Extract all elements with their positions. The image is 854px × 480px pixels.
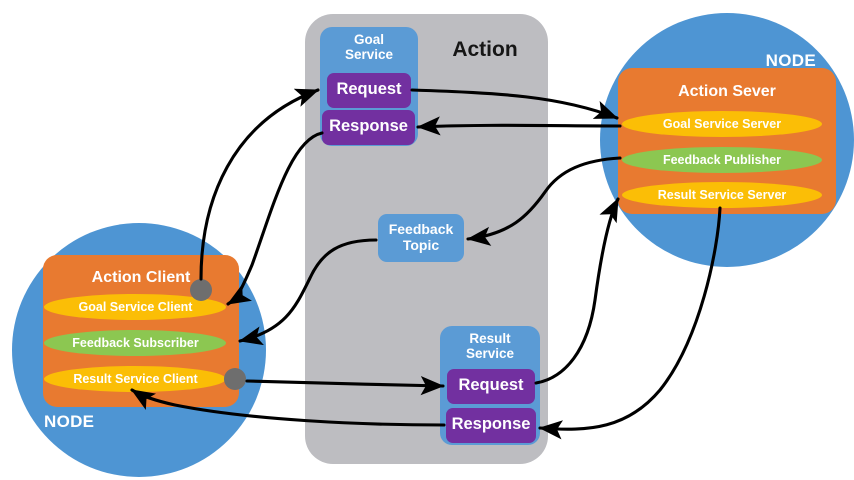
server-endpoint-label-feedback-publisher: Feedback Publisher [622,153,822,167]
client-endpoint-label-feedback-subscriber: Feedback Subscriber [45,336,226,350]
client-group-title: Action Client [45,269,237,287]
goal-service-request-label: Request [327,80,411,98]
action-container-label: Action [430,38,540,62]
server-endpoint-label-goal-service-server: Goal Service Server [622,117,822,131]
server-endpoint-label-result-service-server: Result Service Server [622,188,822,202]
server-node-label: NODE [730,51,816,70]
diagram-canvas: Action Goal Service Request Response Fee… [0,0,854,480]
result-service-response-label: Response [446,415,536,433]
result-service-title: Result Service [445,331,535,361]
connector-dot-result-client [224,368,246,390]
server-group-title: Action Sever [620,83,834,101]
result-service-request-label: Request [447,376,535,394]
goal-service-title: Goal Service [324,32,414,62]
feedback-topic-label: Feedback Topic [379,222,463,253]
goal-service-response-label: Response [322,117,415,135]
client-node-label: NODE [44,412,130,431]
client-endpoint-label-result-service-client: Result Service Client [45,372,226,386]
client-endpoint-label-goal-service-client: Goal Service Client [45,300,226,314]
